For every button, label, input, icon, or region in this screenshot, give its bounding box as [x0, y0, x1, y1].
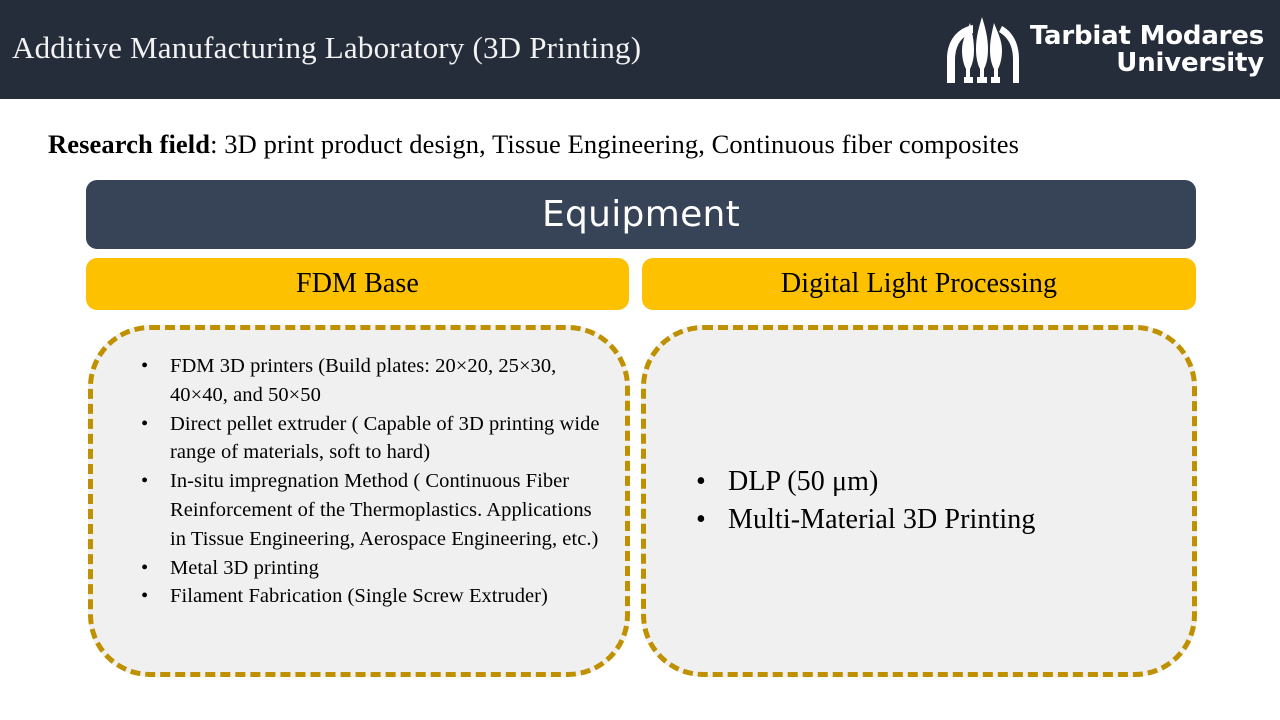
list-item: •Multi-Material 3D Printing [668, 501, 1170, 539]
list-item-text: Direct pellet extruder ( Capable of 3D p… [170, 413, 600, 464]
tarbiat-modares-arch-tulip-logo [943, 15, 1021, 85]
panel-digital-light-processing: •DLP (50 μm) •Multi-Material 3D Printing [641, 325, 1197, 677]
equipment-list-fdm-base: •FDM 3D printers (Build plates: 20×20, 2… [111, 352, 607, 611]
bullet-icon: • [141, 352, 148, 381]
research-field-separator: : [210, 129, 224, 159]
list-item: •DLP (50 μm) [668, 463, 1170, 501]
header-band: Additive Manufacturing Laboratory (3D Pr… [0, 0, 1280, 99]
list-item: •FDM 3D printers (Build plates: 20×20, 2… [111, 352, 607, 410]
category-label-digital-light-processing: Digital Light Processing [781, 268, 1057, 300]
brand-name-line1: Tarbiat Modares [1030, 23, 1264, 50]
list-item: •Metal 3D printing [111, 554, 607, 583]
list-item: •Filament Fabrication (Single Screw Extr… [111, 582, 607, 611]
list-item-text: DLP (50 μm) [728, 466, 878, 497]
equipment-list-digital-light-processing: •DLP (50 μm) •Multi-Material 3D Printing [668, 463, 1170, 539]
list-item-text: Filament Fabrication (Single Screw Extru… [170, 585, 548, 607]
bullet-icon: • [141, 410, 148, 439]
panel-fdm-base: •FDM 3D printers (Build plates: 20×20, 2… [88, 325, 630, 677]
equipment-title: Equipment [542, 194, 740, 235]
bullet-icon: • [141, 467, 148, 496]
equipment-header-bar: Equipment [86, 180, 1196, 249]
category-label-fdm-base: FDM Base [296, 268, 419, 300]
list-item-text: In-situ impregnation Method ( Continuous… [170, 470, 598, 550]
list-item: •In-situ impregnation Method ( Continuou… [111, 467, 607, 553]
research-field-value: 3D print product design, Tissue Engineer… [224, 129, 1019, 159]
category-button-fdm-base[interactable]: FDM Base [86, 258, 629, 310]
page-title: Additive Manufacturing Laboratory (3D Pr… [0, 31, 641, 65]
brand-text: Tarbiat Modares University [1030, 23, 1264, 76]
bullet-icon: • [696, 463, 706, 501]
brand-lockup: Tarbiat Modares University [943, 15, 1280, 85]
bullet-icon: • [141, 554, 148, 583]
research-field-line: Research field: 3D print product design,… [48, 129, 1238, 160]
bullet-icon: • [141, 582, 148, 611]
brand-name-line2: University [1116, 50, 1264, 77]
research-field-label: Research field [48, 129, 210, 159]
list-item: •Direct pellet extruder ( Capable of 3D … [111, 410, 607, 468]
list-item-text: Metal 3D printing [170, 557, 319, 579]
slide-root: Additive Manufacturing Laboratory (3D Pr… [0, 0, 1280, 720]
category-button-digital-light-processing[interactable]: Digital Light Processing [642, 258, 1196, 310]
list-item-text: FDM 3D printers (Build plates: 20×20, 25… [170, 355, 556, 406]
bullet-icon: • [696, 501, 706, 539]
list-item-text: Multi-Material 3D Printing [728, 504, 1035, 535]
